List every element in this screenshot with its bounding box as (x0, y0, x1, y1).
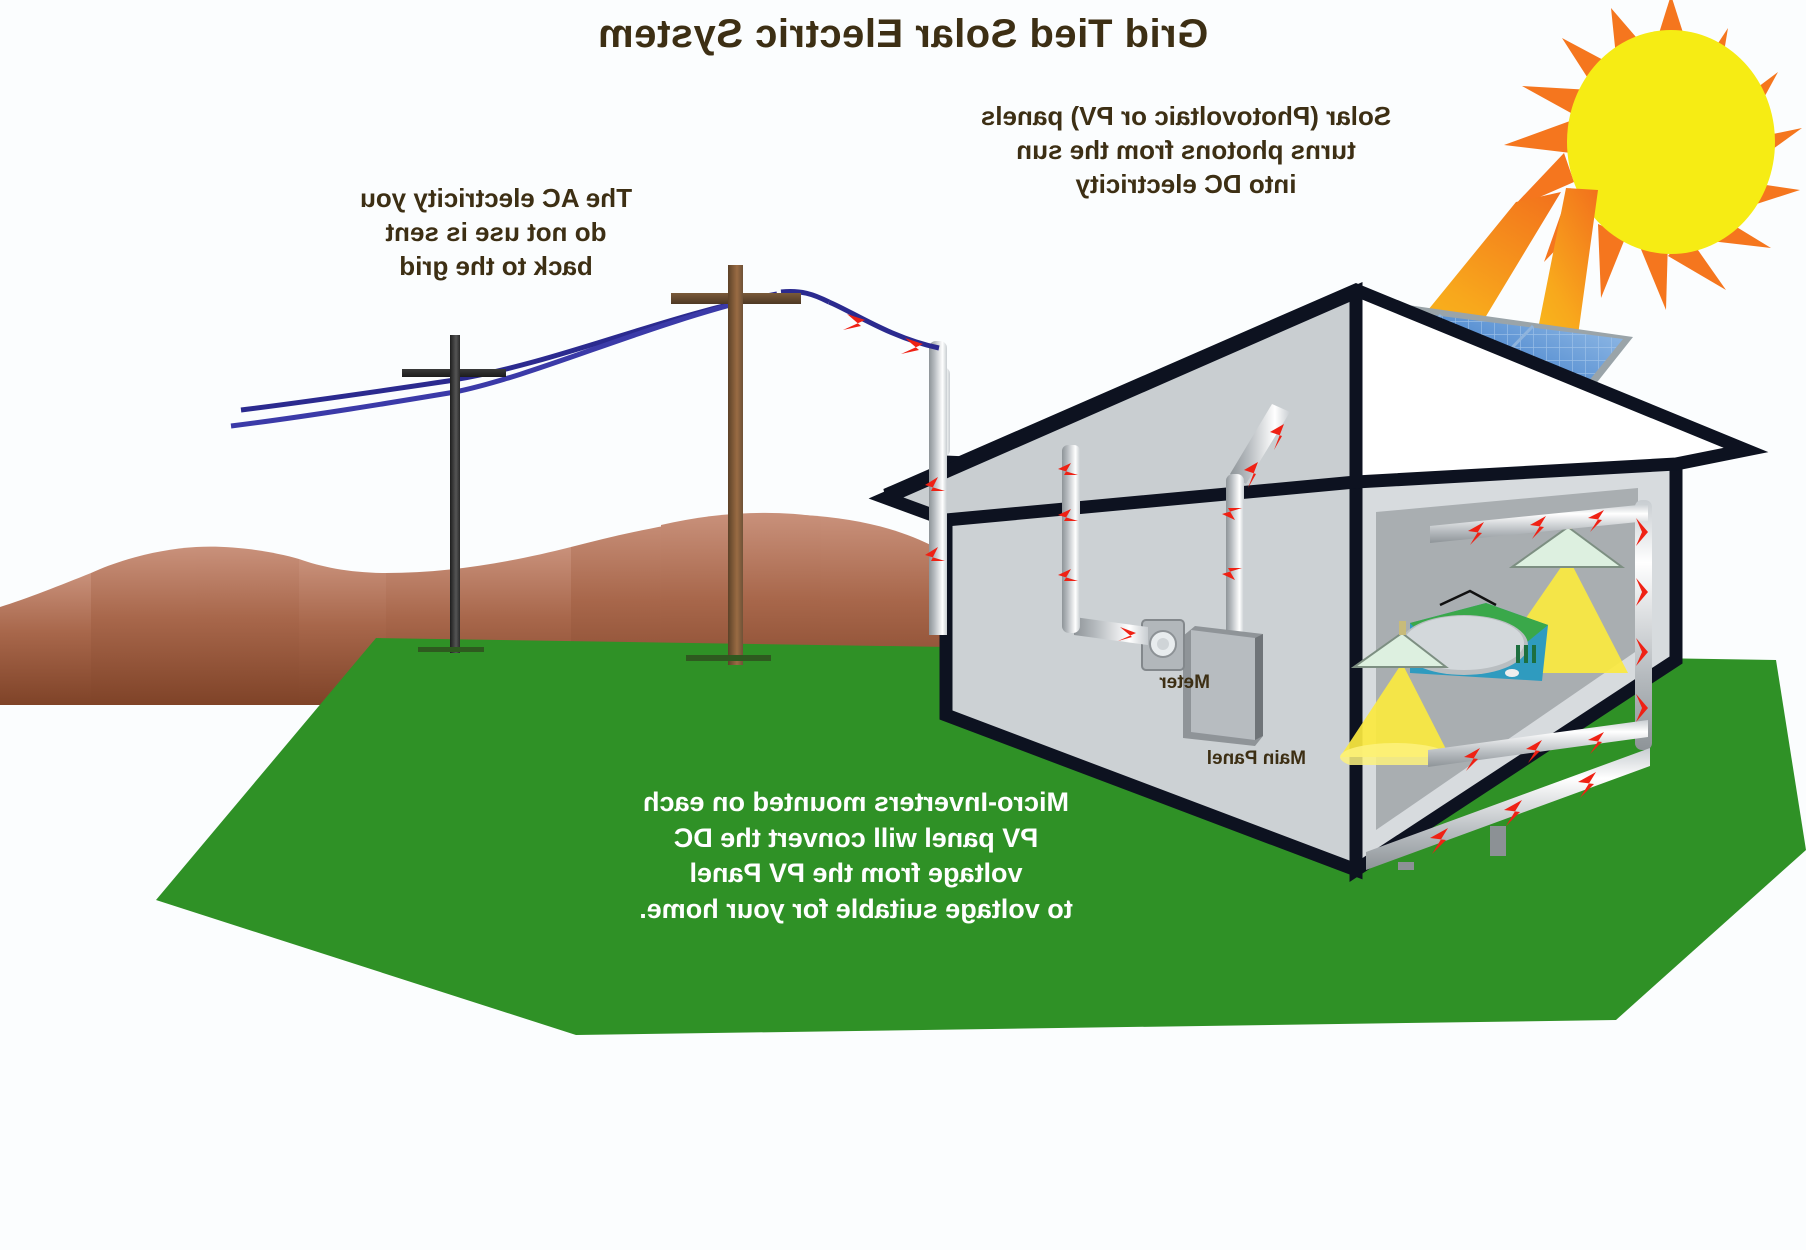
label-meter: Meter (1159, 672, 1210, 694)
note-mi-line-1: Micro-Inverters mounted on each (546, 785, 1166, 821)
note-ac-line-1: The AC electricity you (266, 182, 726, 216)
note-mi-line-4: to voltage suitable for your home. (546, 892, 1166, 928)
note-micro-inverters: Micro-Inverters mounted on each PV panel… (546, 785, 1166, 928)
solar-system-diagram: Grid Tied Solar Electric System Solar (P… (0, 0, 1806, 1250)
note-pv-line-1: Solar (Photovoltaic or PV) panels (916, 100, 1456, 134)
note-pv-line-3: into DC electricity (916, 168, 1456, 202)
note-pv-panels: Solar (Photovoltaic or PV) panels turns … (916, 100, 1456, 201)
note-mi-line-3: voltage from the PV Panel (546, 856, 1166, 892)
note-ac-line-3: back to the grid (266, 250, 726, 284)
page-title: Grid Tied Solar Electric System (0, 12, 1806, 57)
label-main-panel: Main Panel (1207, 748, 1306, 770)
note-ac-grid: The AC electricity you do not use is sen… (266, 182, 726, 283)
utility-pole-far (402, 335, 506, 665)
utility-pole-near (671, 265, 801, 685)
note-ac-line-2: do not use is sent (266, 216, 726, 250)
note-pv-line-2: turns photons from the sun (916, 134, 1456, 168)
note-mi-line-2: PV panel will convert the DC (546, 821, 1166, 857)
